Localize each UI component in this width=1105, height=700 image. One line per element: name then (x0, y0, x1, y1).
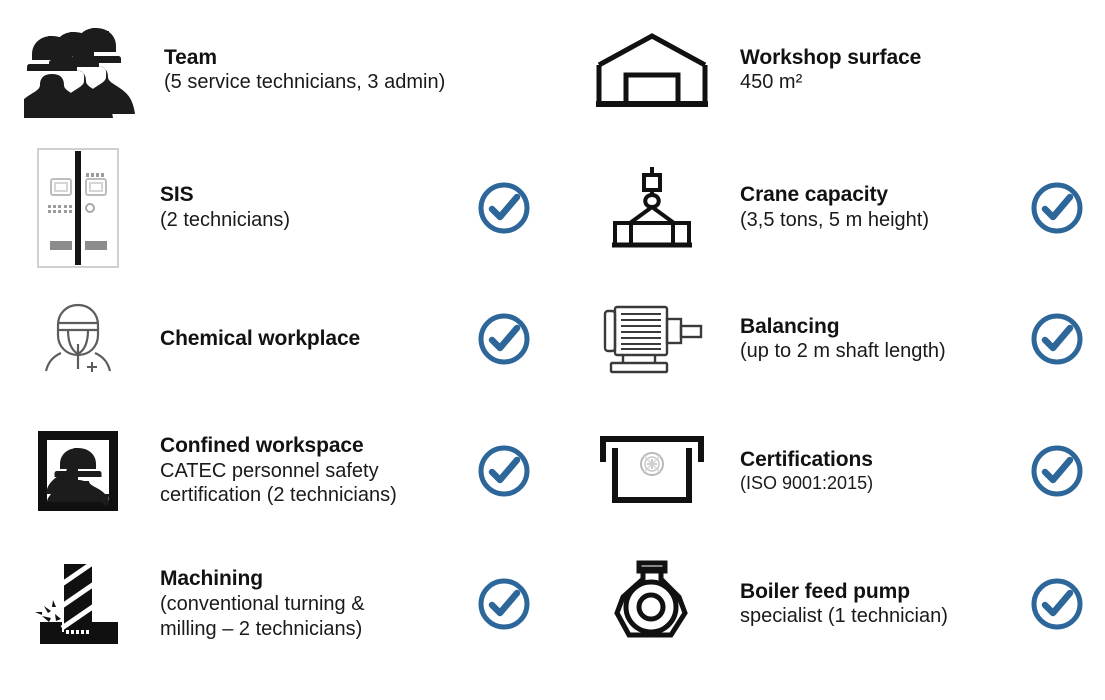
capability-text: Boiler feed pump specialist (1 technicia… (722, 579, 1009, 629)
capability-text: Crane capacity (3,5 tons, 5 m height) (722, 182, 1009, 232)
capability-subtitle: (3,5 tons, 5 m height) (740, 208, 1009, 233)
confined-space-worker-icon (18, 416, 138, 526)
capability-title: Boiler feed pump (740, 579, 1009, 605)
crane-hook-load-icon (582, 153, 722, 263)
check-slot (1009, 180, 1105, 236)
capability-title: Balancing (740, 314, 1009, 340)
capability-subtitle: (2 technicians) (160, 208, 456, 233)
check-slot (456, 443, 552, 499)
check-slot (1009, 443, 1105, 499)
workshop-building-icon (582, 15, 722, 125)
check-slot (456, 576, 552, 632)
pump-volute-icon (582, 549, 722, 659)
check-circle-icon[interactable] (476, 311, 532, 367)
capability-title: Crane capacity (740, 182, 1009, 208)
capability-text: SIS (2 technicians) (138, 182, 456, 232)
check-circle-icon[interactable] (476, 443, 532, 499)
capability-text: Machining (conventional turning & millin… (138, 566, 456, 641)
check-circle-icon[interactable] (1029, 311, 1085, 367)
capability-title: Machining (160, 566, 456, 592)
check-circle-icon[interactable] (476, 576, 532, 632)
capability-title: SIS (160, 182, 456, 208)
capability-card-certifications[interactable]: Certifications (ISO 9001:2015) (552, 403, 1105, 538)
check-circle-icon[interactable] (476, 180, 532, 236)
check-slot (456, 311, 552, 367)
capability-card-confined-workspace[interactable]: Confined workspace CATEC personnel safet… (0, 403, 552, 538)
capability-title: Workshop surface (740, 45, 1009, 71)
capability-text: Confined workspace CATEC personnel safet… (138, 433, 456, 508)
capability-subtitle: (conventional turning & milling – 2 tech… (160, 592, 456, 642)
control-cabinet-icon (18, 153, 138, 263)
capability-text: Balancing (up to 2 m shaft length) (722, 314, 1009, 364)
capability-subtitle: (5 service technicians, 3 admin) (164, 70, 456, 95)
capability-title: Confined workspace (160, 433, 456, 459)
capability-title: Certifications (740, 447, 1009, 473)
check-slot (1009, 311, 1105, 367)
capability-title: Team (164, 45, 456, 71)
protective-hood-worker-icon (18, 284, 138, 394)
certificate-seal-icon (582, 416, 722, 526)
capability-card-sis[interactable]: SIS (2 technicians) (0, 140, 552, 275)
check-circle-icon[interactable] (1029, 576, 1085, 632)
capability-card-machining[interactable]: Machining (conventional turning & millin… (0, 538, 552, 670)
capability-subtitle: CATEC personnel safety certification (2 … (160, 459, 456, 509)
capability-card-crane-capacity[interactable]: Crane capacity (3,5 tons, 5 m height) (552, 140, 1105, 275)
capability-text: Chemical workplace (138, 326, 456, 352)
three-workers-hardhat-icon (18, 15, 142, 125)
check-slot (456, 180, 552, 236)
capabilities-overview-page: Team (5 service technicians, 3 admin) Wo… (0, 0, 1105, 700)
capability-card-workshop-surface[interactable]: Workshop surface 450 m² (552, 0, 1105, 140)
check-circle-icon[interactable] (1029, 180, 1085, 236)
capability-text: Workshop surface 450 m² (722, 45, 1009, 95)
capability-card-boiler-feed-pump[interactable]: Boiler feed pump specialist (1 technicia… (552, 538, 1105, 670)
capabilities-grid: Team (5 service technicians, 3 admin) Wo… (0, 0, 1105, 700)
capability-card-team[interactable]: Team (5 service technicians, 3 admin) (0, 0, 552, 140)
capability-text: Certifications (ISO 9001:2015) (722, 447, 1009, 495)
electric-motor-icon (582, 284, 722, 394)
capability-subtitle: 450 m² (740, 70, 1009, 95)
capability-text: Team (5 service technicians, 3 admin) (142, 45, 456, 95)
capability-title: Chemical workplace (160, 326, 456, 352)
check-slot (1009, 576, 1105, 632)
capability-subtitle: (up to 2 m shaft length) (740, 339, 1009, 364)
capability-card-chemical-workplace[interactable]: Chemical workplace (0, 275, 552, 403)
drill-machining-icon (18, 549, 138, 659)
capability-card-balancing[interactable]: Balancing (up to 2 m shaft length) (552, 275, 1105, 403)
capability-subtitle: (ISO 9001:2015) (740, 472, 1009, 494)
check-circle-icon[interactable] (1029, 443, 1085, 499)
capability-subtitle: specialist (1 technician) (740, 604, 1009, 629)
